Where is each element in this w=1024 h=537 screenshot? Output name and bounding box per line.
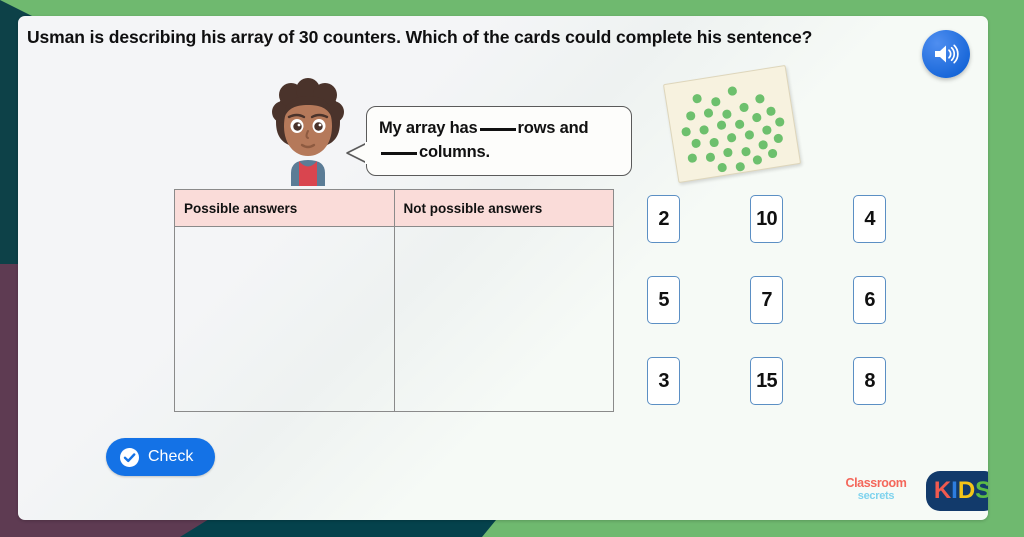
counter-dot — [766, 106, 776, 116]
kids-logo-letter: K — [934, 477, 950, 505]
counter-dot — [744, 130, 754, 140]
counter-dot — [723, 147, 733, 157]
counter-dot — [739, 102, 749, 112]
counters-sheet — [663, 65, 801, 183]
counter-dot — [711, 97, 721, 107]
sorting-table: Possible answers Not possible answers — [174, 189, 614, 412]
column-header-possible: Possible answers — [175, 190, 395, 227]
counter-dot — [726, 133, 736, 143]
speech-bubble-text: My array hasrows andcolumns. — [367, 117, 631, 165]
audio-play-button[interactable] — [922, 30, 970, 78]
number-card[interactable]: 2 — [647, 195, 680, 243]
counter-dot — [767, 148, 777, 158]
dropzone-possible[interactable] — [175, 227, 395, 412]
counter-dot — [686, 111, 696, 121]
bubble-part-2: rows and — [518, 119, 589, 137]
counter-dot — [681, 127, 691, 137]
kids-logo-letter: D — [958, 477, 974, 505]
bubble-part-1: My array has — [379, 119, 478, 137]
cs-logo-line2: secrets — [838, 491, 914, 502]
counter-dot — [773, 133, 783, 143]
counter-dot — [752, 112, 762, 122]
counter-dot — [735, 162, 745, 172]
counter-dot — [775, 117, 785, 127]
counter-dot — [709, 137, 719, 147]
table-header-row: Possible answers Not possible answers — [175, 190, 614, 227]
classroom-secrets-logo: Classroom secrets — [838, 477, 914, 507]
counter-dot — [717, 162, 727, 172]
cs-logo-line1: Classroom — [838, 477, 914, 490]
speech-bubble-tail-icon — [345, 141, 368, 165]
kids-logo-letter: S — [975, 477, 988, 505]
blank-rows — [480, 128, 516, 131]
number-card-grid: 21045763158 — [647, 195, 886, 405]
counter-dot — [727, 86, 737, 96]
counter-dot — [762, 125, 772, 135]
counter-dot — [699, 125, 709, 135]
number-card[interactable]: 6 — [853, 276, 886, 324]
counters-array-image — [663, 65, 801, 183]
number-card[interactable]: 7 — [750, 276, 783, 324]
number-card[interactable]: 10 — [750, 195, 783, 243]
counter-dot — [705, 152, 715, 162]
counter-dot — [716, 120, 726, 130]
counter-dot — [703, 108, 713, 118]
kids-logo: KIDS — [926, 471, 988, 511]
check-button[interactable]: Check — [106, 438, 215, 476]
slide-background: Usman is describing his array of 30 coun… — [0, 0, 1024, 537]
check-circle-icon — [120, 448, 139, 467]
number-card[interactable]: 8 — [853, 357, 886, 405]
number-card[interactable]: 3 — [647, 357, 680, 405]
column-header-not-possible: Not possible answers — [394, 190, 614, 227]
question-text: Usman is describing his array of 30 coun… — [27, 26, 907, 49]
check-button-label: Check — [148, 448, 193, 466]
counter-dot — [692, 94, 702, 104]
activity-card: Usman is describing his array of 30 coun… — [18, 16, 988, 520]
blank-columns — [381, 152, 417, 155]
counter-dot — [734, 119, 744, 129]
counter-dot — [687, 153, 697, 163]
counter-dot — [752, 155, 762, 165]
counter-dot — [755, 94, 765, 104]
counter-dot — [741, 147, 751, 157]
kids-logo-letter: I — [951, 477, 957, 505]
number-card[interactable]: 5 — [647, 276, 680, 324]
counter-dot — [722, 109, 732, 119]
student-avatar-usman — [258, 78, 358, 186]
counter-dot — [758, 140, 768, 150]
counter-dot — [691, 138, 701, 148]
bubble-part-3: columns. — [419, 143, 490, 161]
number-card[interactable]: 15 — [750, 357, 783, 405]
number-card[interactable]: 4 — [853, 195, 886, 243]
speech-bubble: My array hasrows andcolumns. — [366, 106, 632, 176]
speaker-icon — [933, 42, 959, 66]
table-row — [175, 227, 614, 412]
dropzone-not-possible[interactable] — [394, 227, 614, 412]
